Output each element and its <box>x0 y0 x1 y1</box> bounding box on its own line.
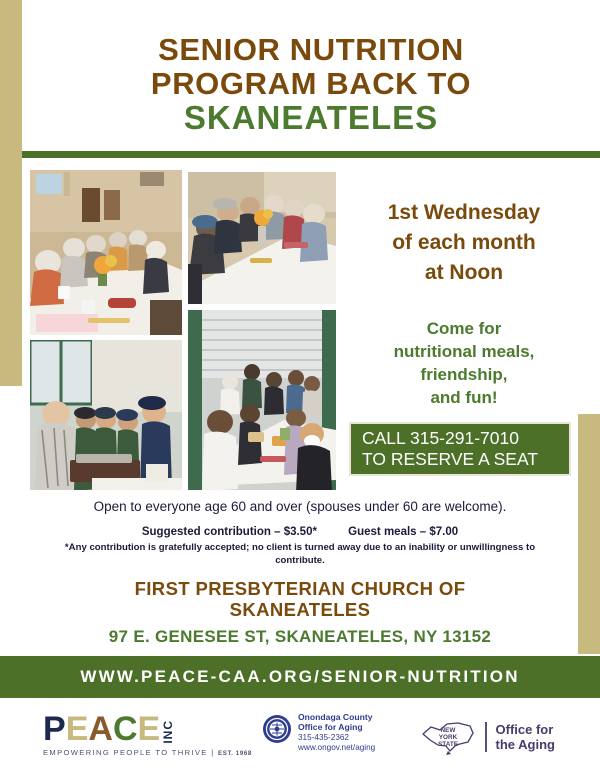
invitation-line-3: friendship, <box>340 364 588 387</box>
schedule-line-3: at Noon <box>340 258 588 288</box>
venue-name-line-2: SKANEATELES <box>30 599 570 620</box>
green-divider-rule <box>22 151 600 158</box>
nys-office-line-2: the Aging <box>496 737 555 752</box>
photo-group-seated-at-tables-in-hall <box>188 310 336 490</box>
nys-office-for-the-aging-logo: NEW YORK STATE Office for the Aging <box>420 714 570 760</box>
eligibility-text: Open to everyone age 60 and over (spouse… <box>30 498 570 516</box>
nys-logo-divider <box>485 722 487 752</box>
flyer-page: SENIOR NUTRITION PROGRAM BACK TO SKANEAT… <box>0 0 600 776</box>
peace-established-year: EST. 1968 <box>218 750 252 757</box>
photo-collage <box>30 170 348 492</box>
county-name: Onondaga County <box>298 712 375 722</box>
onondaga-county-office-for-aging-logo: Onondaga County Office for Aging 315-435… <box>262 712 392 762</box>
peace-letter-p: P <box>43 715 66 744</box>
peace-tagline-text: EMPOWERING PEOPLE TO THRIVE <box>43 748 208 757</box>
call-reserve-line: TO RESERVE A SEAT <box>362 449 538 470</box>
new-york-state-map-icon: NEW YORK STATE <box>420 718 476 756</box>
title-line-3: SKANEATELES <box>184 100 438 136</box>
fees-line: Suggested contribution – $3.50* Guest me… <box>30 526 570 538</box>
peace-tagline: EMPOWERING PEOPLE TO THRIVE | EST. 1968 <box>43 748 235 757</box>
photo-seniors-dining-at-long-table <box>30 170 182 335</box>
peace-wordmark: P E A C E INC <box>43 710 235 744</box>
peace-tagline-separator: | <box>211 748 214 757</box>
call-phone-line[interactable]: CALL 315-291-7010 <box>362 428 519 449</box>
invitation-text: Come for nutritional meals, friendship, … <box>340 318 588 410</box>
venue-address: 97 E. GENESEE ST, SKANEATELES, NY 13152 <box>30 627 570 647</box>
schedule-text: 1st Wednesday of each month at Noon <box>340 198 588 287</box>
call-to-reserve-box[interactable]: CALL 315-291-7010 TO RESERVE A SEAT <box>349 422 571 476</box>
peace-letter-c: C <box>113 715 138 744</box>
nys-map-label-york: YORK <box>439 734 458 741</box>
photo-volunteers-serving-food-buffet <box>30 340 182 490</box>
invitation-line-2: nutritional meals, <box>340 341 588 364</box>
nys-office-line-1: Office for <box>496 722 555 737</box>
invitation-line-1: Come for <box>340 318 588 341</box>
peace-inc-suffix: INC <box>162 720 174 744</box>
photo-3-artwork <box>30 340 182 490</box>
title-line-2: PROGRAM BACK TO <box>151 67 471 100</box>
peace-inc-logo: P E A C E INC EMPOWERING PEOPLE TO THRIV… <box>43 710 235 762</box>
peace-letter-a: A <box>88 715 113 744</box>
schedule-line-1: 1st Wednesday <box>340 198 588 228</box>
county-phone: 315-435-2362 <box>298 733 375 743</box>
photo-4-artwork <box>188 310 336 490</box>
nys-office-text: Office for the Aging <box>496 722 555 753</box>
county-website[interactable]: www.ongov.net/aging <box>298 743 375 753</box>
website-banner[interactable]: WWW.PEACE-CAA.ORG/SENIOR-NUTRITION <box>0 656 600 698</box>
guest-meal-price: Guest meals – $7.00 <box>348 526 458 538</box>
right-tan-accent-bar <box>578 414 600 654</box>
peace-letter-e2: E <box>138 715 161 744</box>
photo-1-artwork <box>30 170 182 335</box>
county-seal-icon <box>262 714 292 744</box>
schedule-line-2: of each month <box>340 228 588 258</box>
photo-2-artwork <box>188 172 336 304</box>
county-logo-text: Onondaga County Office for Aging 315-435… <box>298 712 375 762</box>
nys-map-label-state: STATE <box>438 741 459 748</box>
website-url[interactable]: WWW.PEACE-CAA.ORG/SENIOR-NUTRITION <box>80 667 519 687</box>
footer-logos: P E A C E INC EMPOWERING PEOPLE TO THRIV… <box>0 698 600 776</box>
invitation-line-4: and fun! <box>340 387 588 410</box>
venue-block: FIRST PRESBYTERIAN CHURCH OF SKANEATELES… <box>30 578 570 647</box>
peace-letter-e: E <box>66 715 89 744</box>
venue-name-line-1: FIRST PRESBYTERIAN CHURCH OF <box>30 578 570 599</box>
photo-seniors-eating-meal-together <box>188 172 336 304</box>
suggested-contribution: Suggested contribution – $3.50* <box>142 526 317 538</box>
title-line-1: SENIOR NUTRITION <box>158 33 464 66</box>
contribution-disclaimer: *Any contribution is gratefully accepted… <box>60 542 540 567</box>
nys-map-label-new: NEW <box>441 727 457 734</box>
county-office-name: Office for Aging <box>298 722 375 732</box>
page-title: SENIOR NUTRITION PROGRAM BACK TO SKANEAT… <box>22 22 600 147</box>
left-tan-accent-bar <box>0 0 22 386</box>
